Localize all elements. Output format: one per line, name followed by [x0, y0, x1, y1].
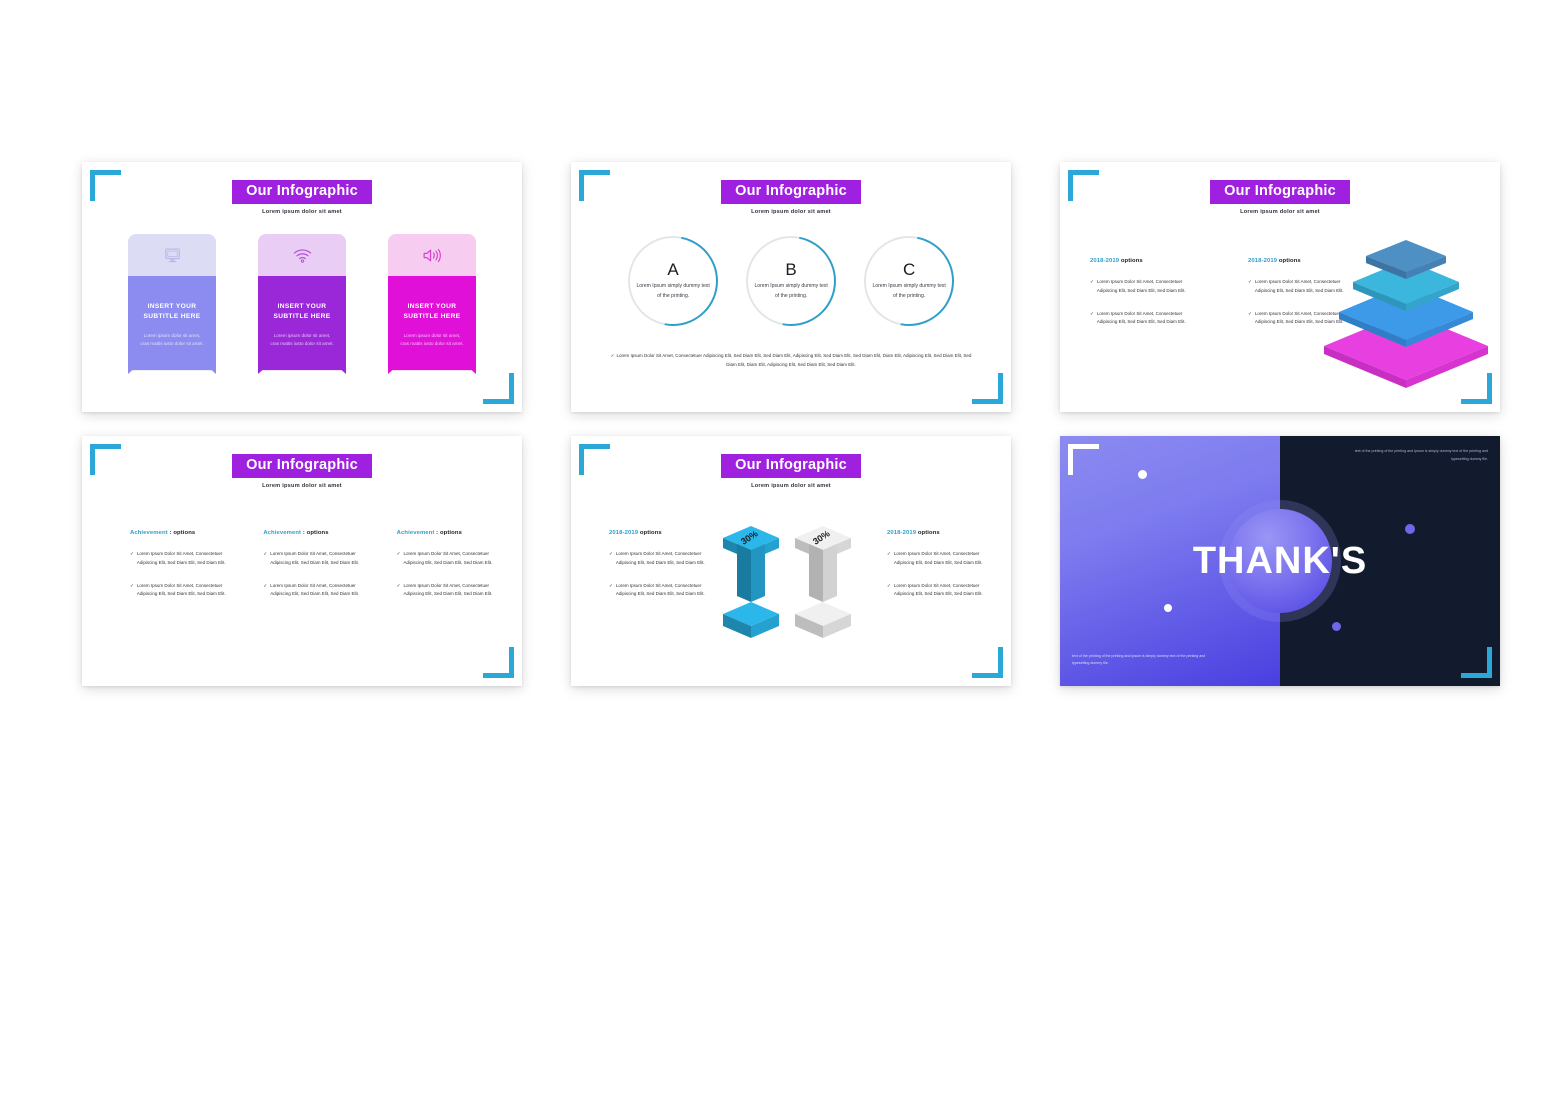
- page-title: Our Infographic: [1210, 180, 1350, 204]
- slide-title-block: Our Infographic Lorem ipsum dolor sit am…: [571, 454, 1011, 489]
- page-title: Our Infographic: [232, 454, 372, 478]
- option-column: 2018-2019 options ✓Lorem Ipsum Dolor Sit…: [1090, 258, 1186, 327]
- list-item-text: Lorem Ipsum Dolor Sit Amet, Consectetuer…: [894, 582, 989, 600]
- check-icon: ✓: [263, 550, 267, 568]
- slide-deck: Our Infographic Lorem ipsum dolor sit am…: [0, 0, 1560, 1115]
- footer-text: Lorem Ipsum Dolor Sit Amet, Consectetuer…: [616, 353, 971, 367]
- list-item-text: Lorem Ipsum Dolor Sit Amet, Consectetuer…: [137, 582, 227, 600]
- check-icon: ✓: [130, 550, 134, 568]
- list-item-text: Lorem Ipsum Dolor Sit Amet, Consectetuer…: [1097, 310, 1186, 328]
- list-item: ✓Lorem Ipsum Dolor Sit Amet, Consectetue…: [397, 550, 494, 568]
- list-item: ✓Lorem Ipsum Dolor Sit Amet, Consectetue…: [397, 582, 494, 600]
- card-item[interactable]: INSERT YOUR SUBTITLE HERE Lorem ipsum do…: [128, 234, 216, 374]
- card-subtitle-line-1: INSERT YOUR: [128, 302, 216, 312]
- card-icon-area: [258, 234, 346, 276]
- decorative-dot: [1164, 604, 1172, 612]
- corner-bracket-bottom-right-icon: [1461, 647, 1492, 678]
- isometric-pillars-chart: 30% 30%: [713, 520, 865, 650]
- list-item: ✓Lorem Ipsum Dolor Sit Amet, Consectetue…: [1090, 278, 1186, 296]
- slide-2-circles[interactable]: Our Infographic Lorem ipsum dolor sit am…: [571, 162, 1011, 412]
- slide-title-block: Our Infographic Lorem ipsum dolor sit am…: [1060, 180, 1500, 215]
- slide-2-footer-text: ✓Lorem Ipsum Dolor Sit Amet, Consectetue…: [609, 352, 973, 370]
- check-icon: ✓: [1248, 310, 1252, 328]
- decorative-dot: [1405, 524, 1415, 534]
- list-item: ✓Lorem Ipsum Dolor Sit Amet, Consectetue…: [887, 582, 989, 600]
- page-subtitle: Lorem ipsum dolor sit amet: [82, 483, 522, 489]
- slide-4-achievements[interactable]: Our Infographic Lorem ipsum dolor sit am…: [82, 436, 522, 686]
- isometric-pyramid-chart: [1318, 234, 1494, 396]
- circle-item-a[interactable]: A Lorem Ipsum simply dummy text of the p…: [611, 219, 736, 344]
- list-item-text: Lorem Ipsum Dolor Sit Amet, Consectetuer…: [404, 582, 494, 600]
- column-heading: 2018-2019 options: [609, 530, 711, 536]
- column-heading: 2018-2019 options: [1090, 258, 1186, 264]
- card-icon-area: [128, 234, 216, 276]
- list-item: ✓Lorem Ipsum Dolor Sit Amet, Consectetue…: [609, 550, 711, 568]
- option-column-right: 2018-2019 options ✓Lorem Ipsum Dolor Sit…: [887, 530, 989, 599]
- card-list: INSERT YOUR SUBTITLE HERE Lorem ipsum do…: [82, 234, 522, 374]
- list-item-text: Lorem Ipsum Dolor Sit Amet, Consectetuer…: [404, 550, 494, 568]
- card-body: INSERT YOUR SUBTITLE HERE Lorem ipsum do…: [128, 276, 216, 374]
- bottom-left-text: text of the printing of the printing and…: [1072, 653, 1222, 668]
- heading-accent: Achievement: [397, 530, 435, 536]
- card-text: Lorem ipsum dolor sit amet, cras mattis …: [388, 332, 476, 348]
- list-item: ✓Lorem Ipsum Dolor Sit Amet, Consectetue…: [1090, 310, 1186, 328]
- list-item-text: Lorem Ipsum Dolor Sit Amet, Consectetuer…: [1097, 278, 1186, 296]
- wifi-icon: [293, 248, 312, 263]
- card-text: Lorem ipsum dolor sit amet, cras mattis …: [258, 332, 346, 348]
- decorative-dot: [1138, 470, 1147, 479]
- card-item[interactable]: INSERT YOUR SUBTITLE HERE Lorem ipsum do…: [388, 234, 476, 374]
- list-item-text: Lorem Ipsum Dolor Sit Amet, Consectetuer…: [137, 550, 227, 568]
- circle-item-c[interactable]: C Lorem Ipsum simply dummy text of the p…: [847, 219, 972, 344]
- slide-title-block: Our Infographic Lorem ipsum dolor sit am…: [82, 180, 522, 215]
- check-icon: ✓: [1090, 310, 1094, 328]
- circle-letter: C: [870, 261, 948, 278]
- page-subtitle: Lorem ipsum dolor sit amet: [571, 209, 1011, 215]
- achievement-columns: Achievement : options ✓Lorem Ipsum Dolor…: [130, 530, 494, 599]
- slide-5-pillars[interactable]: Our Infographic Lorem ipsum dolor sit am…: [571, 436, 1011, 686]
- page-subtitle: Lorem ipsum dolor sit amet: [82, 209, 522, 215]
- page-title: Our Infographic: [232, 180, 372, 204]
- achievement-column: Achievement : options ✓Lorem Ipsum Dolor…: [130, 530, 227, 599]
- decorative-dot: [1332, 622, 1341, 631]
- card-subtitle-line-2: SUBTITLE HERE: [388, 312, 476, 322]
- monitor-icon: [164, 248, 181, 263]
- circle-list: A Lorem Ipsum simply dummy text of the p…: [571, 236, 1011, 326]
- heading-accent: 2018-2019: [1090, 258, 1119, 264]
- list-item: ✓Lorem Ipsum Dolor Sit Amet, Consectetue…: [263, 550, 360, 568]
- corner-bracket-bottom-right-icon: [483, 647, 514, 678]
- card-body: INSERT YOUR SUBTITLE HERE Lorem ipsum do…: [258, 276, 346, 374]
- list-item: ✓Lorem Ipsum Dolor Sit Amet, Consectetue…: [887, 550, 989, 568]
- heading-accent: 2018-2019: [1248, 258, 1277, 264]
- heading-accent: 2018-2019: [887, 530, 916, 536]
- heading-accent: Achievement: [130, 530, 168, 536]
- heading-rest: options: [916, 530, 940, 536]
- check-icon: ✓: [130, 582, 134, 600]
- column-heading: Achievement : options: [397, 530, 494, 536]
- check-icon: ✓: [397, 550, 401, 568]
- corner-bracket-bottom-right-icon: [972, 373, 1003, 404]
- circle-item-b[interactable]: B Lorem Ipsum simply dummy text of the p…: [729, 219, 854, 344]
- slide-title-block: Our Infographic Lorem ipsum dolor sit am…: [82, 454, 522, 489]
- list-item: ✓Lorem Ipsum Dolor Sit Amet, Consectetue…: [130, 582, 227, 600]
- circle-text: Lorem Ipsum simply dummy text of the pri…: [634, 282, 712, 301]
- list-item-text: Lorem Ipsum Dolor Sit Amet, Consectetuer…: [894, 550, 989, 568]
- top-right-text: text of the printing of the printing and…: [1348, 448, 1488, 463]
- corner-bracket-top-left-icon: [1068, 444, 1099, 475]
- list-item: ✓Lorem Ipsum Dolor Sit Amet, Consectetue…: [263, 582, 360, 600]
- check-icon: ✓: [611, 353, 615, 358]
- column-heading: 2018-2019 options: [887, 530, 989, 536]
- page-title: Our Infographic: [721, 180, 861, 204]
- check-icon: ✓: [887, 582, 891, 600]
- corner-bracket-bottom-right-icon: [972, 647, 1003, 678]
- slide-6-thanks[interactable]: THANK'S text of the printing of the prin…: [1060, 436, 1500, 686]
- check-icon: ✓: [609, 550, 613, 568]
- gray-pillar: 30%: [795, 526, 851, 638]
- circle-letter: A: [634, 261, 712, 278]
- card-icon-area: [388, 234, 476, 276]
- page-subtitle: Lorem ipsum dolor sit amet: [1060, 209, 1500, 215]
- heading-rest: options: [1277, 258, 1301, 264]
- column-heading: Achievement : options: [263, 530, 360, 536]
- corner-bracket-bottom-right-icon: [483, 373, 514, 404]
- thanks-title: THANK'S: [1060, 542, 1500, 580]
- list-item-text: Lorem Ipsum Dolor Sit Amet, Consectetuer…: [270, 582, 360, 600]
- slide-3-pyramid[interactable]: Our Infographic Lorem ipsum dolor sit am…: [1060, 162, 1500, 412]
- heading-accent: Achievement: [263, 530, 301, 536]
- heading-rest: options: [1119, 258, 1143, 264]
- list-item-text: Lorem Ipsum Dolor Sit Amet, Consectetuer…: [616, 550, 711, 568]
- card-subtitle-line-2: SUBTITLE HERE: [258, 312, 346, 322]
- circle-letter: B: [752, 261, 830, 278]
- achievement-column: Achievement : options ✓Lorem Ipsum Dolor…: [397, 530, 494, 599]
- list-item-text: Lorem Ipsum Dolor Sit Amet, Consectetuer…: [616, 582, 711, 600]
- blue-pillar: 30%: [723, 526, 779, 638]
- option-column-left: 2018-2019 options ✓Lorem Ipsum Dolor Sit…: [609, 530, 711, 599]
- slide-1-cards[interactable]: Our Infographic Lorem ipsum dolor sit am…: [82, 162, 522, 412]
- circle-text: Lorem Ipsum simply dummy text of the pri…: [870, 282, 948, 301]
- card-text: Lorem ipsum dolor sit amet, cras mattis …: [128, 332, 216, 348]
- list-item: ✓Lorem Ipsum Dolor Sit Amet, Consectetue…: [609, 582, 711, 600]
- heading-rest: options: [638, 530, 662, 536]
- card-item[interactable]: INSERT YOUR SUBTITLE HERE Lorem ipsum do…: [258, 234, 346, 374]
- achievement-column: Achievement : options ✓Lorem Ipsum Dolor…: [263, 530, 360, 599]
- list-item: ✓Lorem Ipsum Dolor Sit Amet, Consectetue…: [130, 550, 227, 568]
- column-heading: Achievement : options: [130, 530, 227, 536]
- option-columns: 2018-2019 options ✓Lorem Ipsum Dolor Sit…: [1090, 258, 1344, 327]
- check-icon: ✓: [1248, 278, 1252, 296]
- circle-text: Lorem Ipsum simply dummy text of the pri…: [752, 282, 830, 301]
- card-subtitle-line-1: INSERT YOUR: [258, 302, 346, 312]
- list-item-text: Lorem Ipsum Dolor Sit Amet, Consectetuer…: [270, 550, 360, 568]
- check-icon: ✓: [887, 550, 891, 568]
- card-subtitle-line-1: INSERT YOUR: [388, 302, 476, 312]
- check-icon: ✓: [609, 582, 613, 600]
- slide-title-block: Our Infographic Lorem ipsum dolor sit am…: [571, 180, 1011, 215]
- page-title: Our Infographic: [721, 454, 861, 478]
- check-icon: ✓: [397, 582, 401, 600]
- page-subtitle: Lorem ipsum dolor sit amet: [571, 483, 1011, 489]
- card-body: INSERT YOUR SUBTITLE HERE Lorem ipsum do…: [388, 276, 476, 374]
- speaker-icon: [422, 248, 442, 263]
- check-icon: ✓: [1090, 278, 1094, 296]
- heading-accent: 2018-2019: [609, 530, 638, 536]
- card-subtitle-line-2: SUBTITLE HERE: [128, 312, 216, 322]
- heading-rest: : options: [301, 530, 329, 536]
- heading-rest: : options: [168, 530, 196, 536]
- check-icon: ✓: [263, 582, 267, 600]
- heading-rest: : options: [434, 530, 462, 536]
